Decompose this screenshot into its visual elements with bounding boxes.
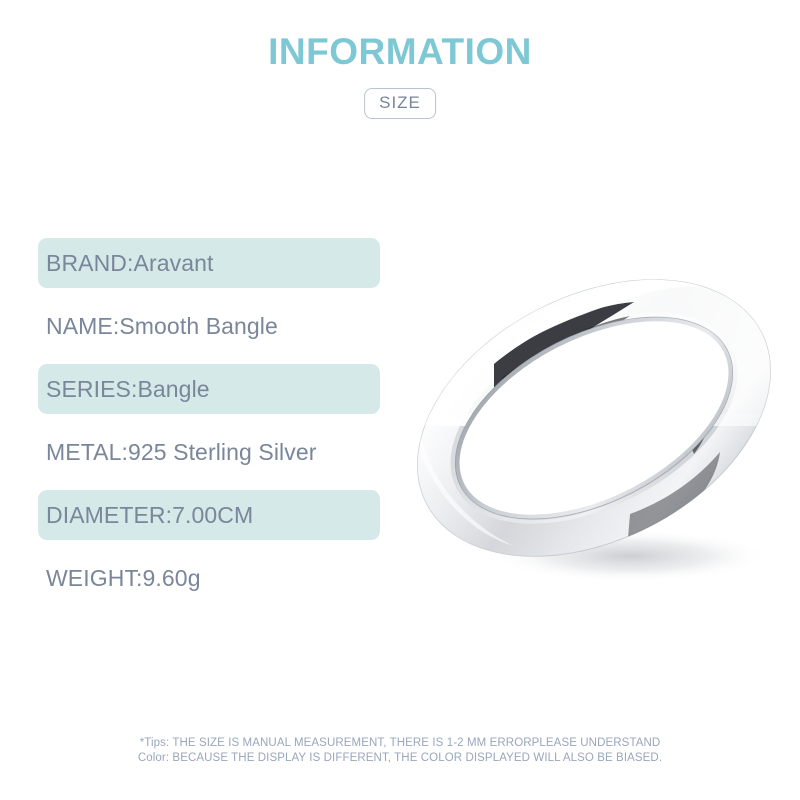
specification-list: BRAND:Aravant NAME:Smooth Bangle SERIES:…: [38, 238, 380, 616]
spec-row-text: METAL:925 Sterling Silver: [46, 439, 317, 466]
product-image-bangle: [398, 238, 790, 598]
spec-row-text: BRAND:Aravant: [46, 250, 213, 277]
spec-row-text: NAME:Smooth Bangle: [46, 313, 278, 340]
spec-row-text: SERIES:Bangle: [46, 376, 210, 403]
page-title: INFORMATION: [0, 30, 800, 74]
spec-row-weight: WEIGHT:9.60g: [38, 553, 380, 603]
spec-row-name: NAME:Smooth Bangle: [38, 301, 380, 351]
spec-row-brand: BRAND:Aravant: [38, 238, 380, 288]
footnote-line-2: Color: BECAUSE THE DISPLAY IS DIFFERENT,…: [0, 751, 800, 766]
footnote-line-1: *Tips: THE SIZE IS MANUAL MEASUREMENT, T…: [0, 736, 800, 751]
spec-row-metal: METAL:925 Sterling Silver: [38, 427, 380, 477]
spec-row-diameter: DIAMETER:7.00CM: [38, 490, 380, 540]
spec-row-text: DIAMETER:7.00CM: [46, 502, 253, 529]
spec-row-series: SERIES:Bangle: [38, 364, 380, 414]
size-badge: SIZE: [364, 88, 436, 119]
footnote: *Tips: THE SIZE IS MANUAL MEASUREMENT, T…: [0, 736, 800, 766]
spec-row-text: WEIGHT:9.60g: [46, 565, 201, 592]
